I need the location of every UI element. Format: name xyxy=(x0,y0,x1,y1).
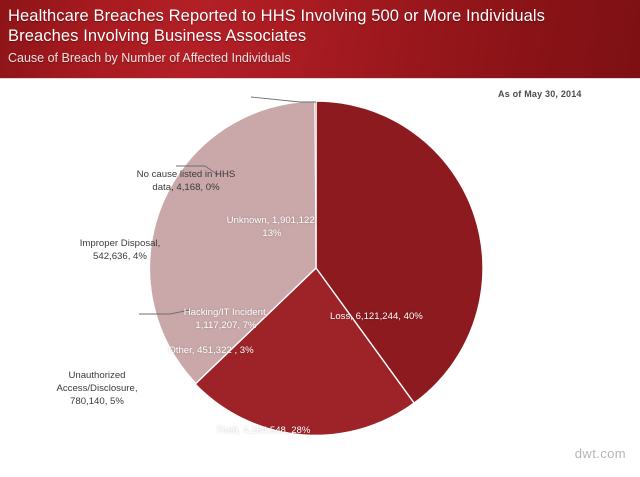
slice-label-loss: Loss, 6,121,244, 40% xyxy=(330,310,470,323)
slide-header-banner: Healthcare Breaches Reported to HHS Invo… xyxy=(0,0,640,78)
page-title-line-1: Healthcare Breaches Reported to HHS Invo… xyxy=(8,6,545,26)
slice-label-theft: Theft, 4,164,548, 28% xyxy=(216,424,356,437)
callout-improper-disposal: Improper Disposal, 542,636, 4% xyxy=(62,237,178,263)
slice-label-hacking-it-incident: Hacking/IT Incident, 1,117,207, 7% xyxy=(160,306,292,332)
page-title-line-2: Breaches Involving Business Associates xyxy=(8,26,306,46)
callout-no-cause-listed: No cause listed in HHS data, 4,168, 0% xyxy=(118,168,254,194)
pie-chart-svg xyxy=(0,78,640,477)
slice-label-other: Other, 451,322 , 3% xyxy=(140,344,282,357)
pie-chart: No cause listed in HHS data, 4,168, 0% I… xyxy=(0,78,640,477)
page-subtitle: Cause of Breach by Number of Affected In… xyxy=(8,50,291,66)
slide-canvas: Healthcare Breaches Reported to HHS Invo… xyxy=(0,0,640,477)
callout-unauthorized-access: Unauthorized Access/Disclosure, 780,140,… xyxy=(36,369,158,408)
footer-brand-label: dwt.com xyxy=(575,446,626,461)
slice-label-unknown: Unknown, 1,901,122, 13% xyxy=(205,214,339,240)
